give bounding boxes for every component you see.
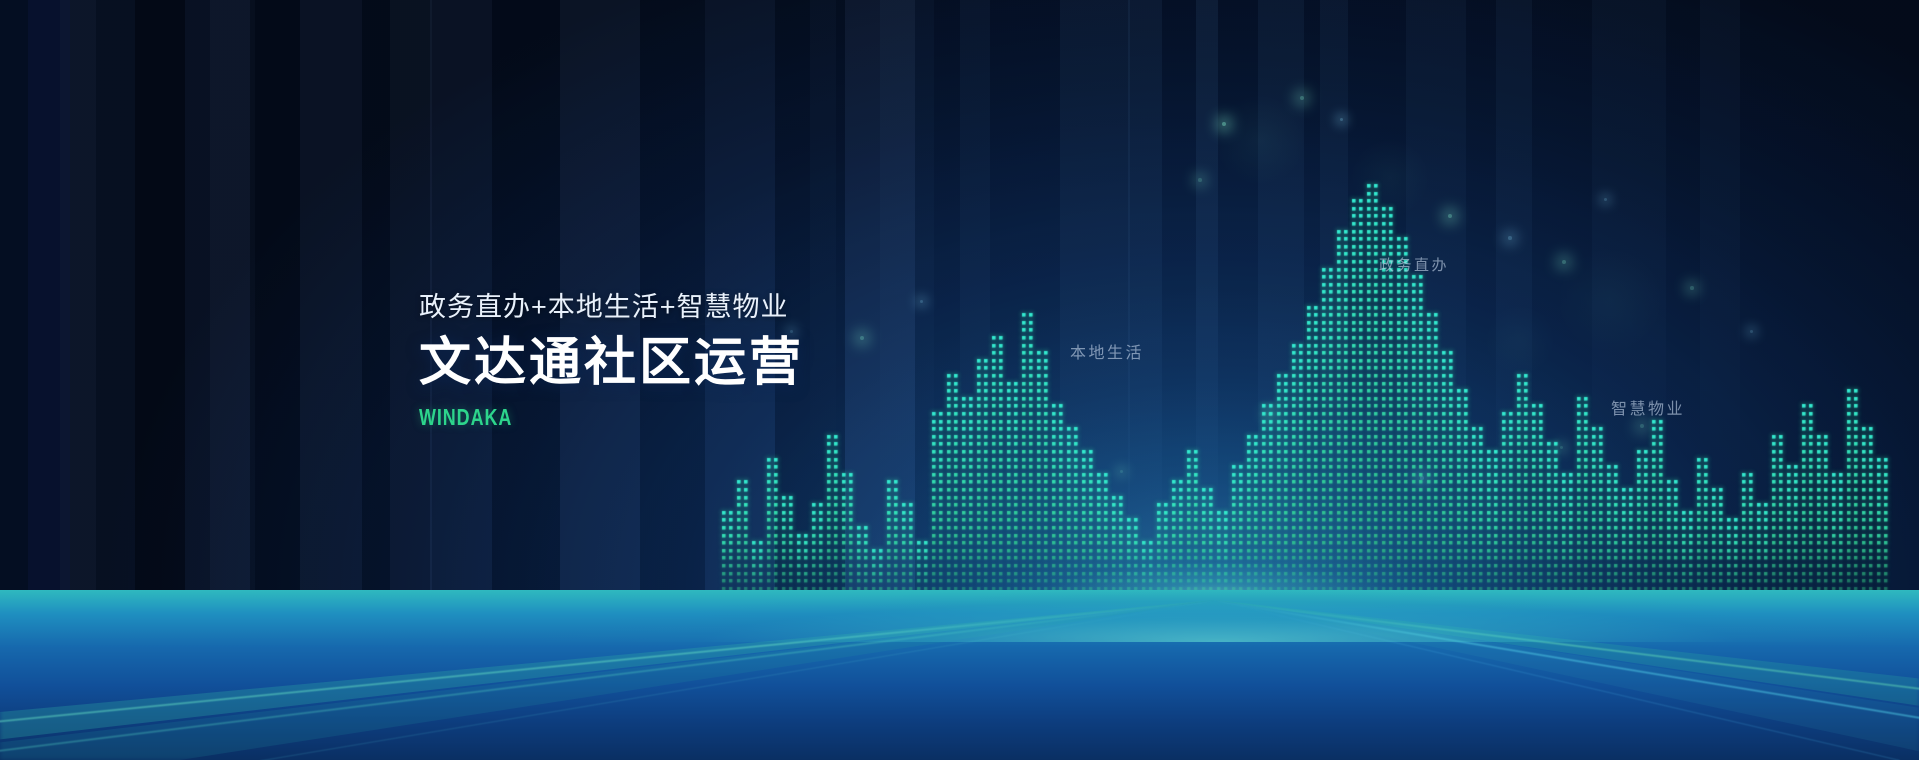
field-label-local-life: 本地生活 (1070, 339, 1144, 363)
hero-title: 文达通社区运营 (419, 333, 804, 394)
ground-plane (0, 590, 1919, 760)
brand-wordmark: WINDAKA (419, 404, 719, 431)
field-label-government: 政务直办 (1379, 254, 1449, 275)
field-label-smart-property: 智慧物业 (1611, 395, 1685, 419)
hero-text-block: 政务直办+本地生活+智慧物业 文达通社区运营 WINDAKA (419, 291, 804, 431)
hero-subtitle: 政务直办+本地生活+智慧物业 (419, 291, 804, 323)
hero-banner: 政务直办+本地生活+智慧物业 文达通社区运营 WINDAKA 政务直办 本地生活… (0, 0, 1919, 760)
